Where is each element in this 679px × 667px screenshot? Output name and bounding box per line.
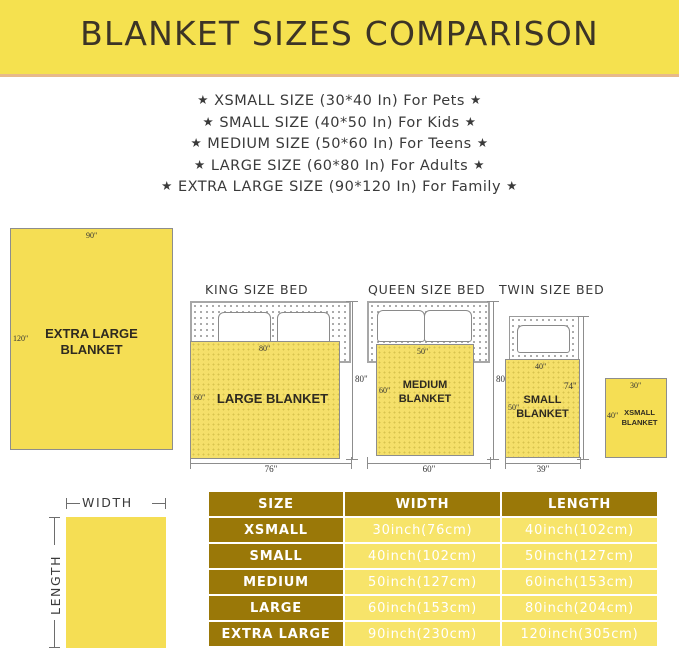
extra-large-blanket-label-line1: EXTRA LARGE bbox=[10, 326, 173, 342]
table-row: SMALL 40inch(102cm) 50inch(127cm) bbox=[209, 544, 657, 568]
queen-height-dim-line bbox=[493, 301, 494, 459]
legend-length-label: LENGTH bbox=[48, 555, 63, 615]
legend-width-tick-left bbox=[66, 498, 67, 509]
legend-width-rule-left bbox=[66, 503, 80, 504]
xsmall-blanket-label-line1: XSMALL bbox=[612, 408, 667, 418]
legend-length-rule-top bbox=[54, 517, 55, 545]
legend-length-tick-top bbox=[49, 517, 60, 518]
king-blanket-top-dim: 80" bbox=[259, 344, 270, 353]
cell-length: 40inch(102cm) bbox=[502, 518, 657, 542]
legend-width-tick-right bbox=[165, 498, 166, 509]
medium-blanket-label-line1: MEDIUM bbox=[376, 378, 474, 392]
large-blanket-label: LARGE BLANKET bbox=[210, 391, 335, 407]
extra-large-top-dim: 90" bbox=[86, 231, 97, 240]
king-bed-height-dim: 80" bbox=[355, 374, 368, 384]
twin-blanket-top-dim: 40" bbox=[535, 362, 546, 371]
twin-height-tick-bottom bbox=[577, 459, 589, 460]
queen-bed-title: QUEEN SIZE BED bbox=[368, 282, 485, 297]
legend-length-rule-bottom bbox=[54, 620, 55, 648]
cell-width: 60inch(153cm) bbox=[345, 596, 500, 620]
king-height-dim-line bbox=[352, 301, 353, 459]
queen-pillow-right bbox=[424, 310, 472, 342]
cell-length: 60inch(153cm) bbox=[502, 570, 657, 594]
twin-bed-height-dim: 74" bbox=[564, 381, 577, 391]
queen-height-tick-bottom bbox=[487, 459, 499, 460]
small-blanket-label-line2: BLANKET bbox=[505, 407, 580, 421]
king-bed-title: KING SIZE BED bbox=[205, 282, 308, 297]
cell-width: 50inch(127cm) bbox=[345, 570, 500, 594]
column-header-length: LENGTH bbox=[502, 492, 657, 516]
cell-length: 50inch(127cm) bbox=[502, 544, 657, 568]
cell-width: 30inch(76cm) bbox=[345, 518, 500, 542]
cell-width: 90inch(230cm) bbox=[345, 622, 500, 646]
king-height-tick-top bbox=[346, 301, 358, 302]
extra-large-blanket-label-line2: BLANKET bbox=[10, 342, 173, 358]
king-blanket-side-dim: 60" bbox=[194, 393, 205, 402]
king-height-tick-bottom bbox=[346, 459, 358, 460]
twin-pillow bbox=[517, 325, 570, 353]
xsmall-top-dim: 30" bbox=[630, 381, 641, 390]
legend-width-label: WIDTH bbox=[82, 495, 133, 510]
cell-width: 40inch(102cm) bbox=[345, 544, 500, 568]
queen-blanket-top-dim: 50" bbox=[417, 347, 428, 356]
width-length-legend: WIDTH LENGTH bbox=[40, 495, 190, 657]
medium-blanket-label-line2: BLANKET bbox=[376, 392, 474, 406]
cell-size: MEDIUM bbox=[209, 570, 343, 594]
legend-length-tick-bottom bbox=[49, 647, 60, 648]
legend-blanket-swatch bbox=[66, 517, 166, 648]
cell-length: 120inch(305cm) bbox=[502, 622, 657, 646]
xsmall-blanket-label-line2: BLANKET bbox=[612, 418, 667, 428]
legend-width-rule-right bbox=[152, 503, 166, 504]
twin-bed-title: TWIN SIZE BED bbox=[499, 282, 605, 297]
table-row: EXTRA LARGE 90inch(230cm) 120inch(305cm) bbox=[209, 622, 657, 646]
twin-height-tick-top bbox=[577, 316, 589, 317]
queen-pillow-left bbox=[377, 310, 425, 342]
twin-height-dim-line bbox=[583, 316, 584, 459]
cell-size: XSMALL bbox=[209, 518, 343, 542]
column-header-size: SIZE bbox=[209, 492, 343, 516]
table-row: MEDIUM 50inch(127cm) 60inch(153cm) bbox=[209, 570, 657, 594]
cell-size: SMALL bbox=[209, 544, 343, 568]
table-row: XSMALL 30inch(76cm) 40inch(102cm) bbox=[209, 518, 657, 542]
queen-bed-width-dim: 60" bbox=[367, 464, 491, 474]
size-table: SIZE WIDTH LENGTH XSMALL 30inch(76cm) 40… bbox=[207, 490, 659, 648]
cell-length: 80inch(204cm) bbox=[502, 596, 657, 620]
table-row: LARGE 60inch(153cm) 80inch(204cm) bbox=[209, 596, 657, 620]
twin-bed-width-dim: 39" bbox=[505, 464, 581, 474]
queen-height-tick-top bbox=[487, 301, 499, 302]
small-blanket-label-line1: SMALL bbox=[505, 393, 580, 407]
cell-size: LARGE bbox=[209, 596, 343, 620]
cell-size: EXTRA LARGE bbox=[209, 622, 343, 646]
table-header-row: SIZE WIDTH LENGTH bbox=[209, 492, 657, 516]
column-header-width: WIDTH bbox=[345, 492, 500, 516]
